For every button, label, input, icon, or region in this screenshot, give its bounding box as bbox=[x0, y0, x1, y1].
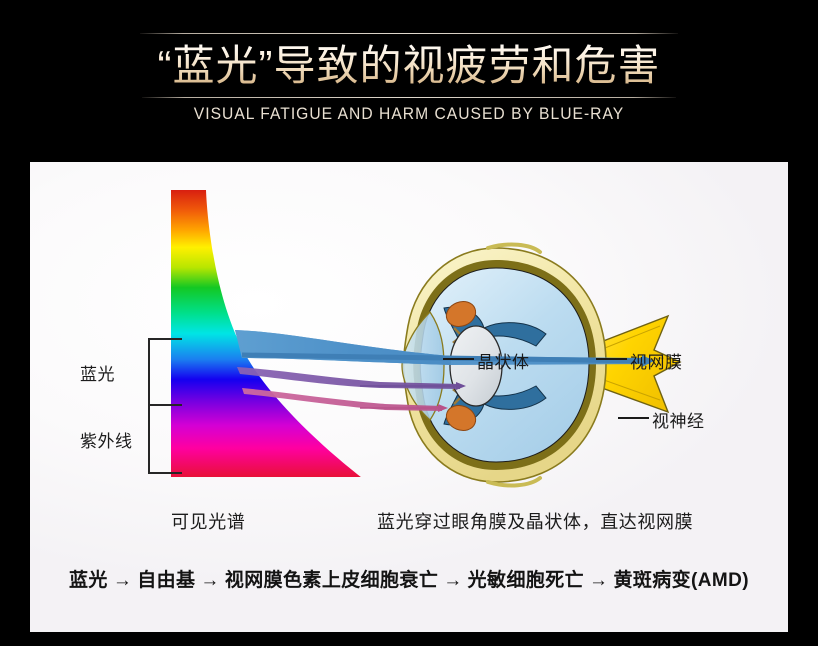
content-panel: 蓝光 紫外线 bbox=[30, 162, 788, 632]
chain-node: 自由基 bbox=[137, 565, 195, 592]
eye-label-lens: 晶状体 bbox=[477, 348, 530, 373]
bracket-blue-light bbox=[148, 338, 182, 406]
header-banner: “蓝光”导致的视疲劳和危害 VISUAL FATIGUE AND HARM CA… bbox=[0, 0, 818, 160]
title-rule-top bbox=[140, 33, 678, 34]
spectrum-svg bbox=[165, 190, 380, 490]
leader-line-retina bbox=[596, 358, 627, 360]
spectrum-wedge bbox=[171, 190, 361, 477]
damage-chain: 蓝光→自由基→视网膜色素上皮细胞衰亡→光敏细胞死亡→黄斑病变(AMD) bbox=[30, 565, 788, 592]
caption-visible-spectrum: 可见光谱 bbox=[171, 508, 245, 534]
page-subtitle: VISUAL FATIGUE AND HARM CAUSED BY BLUE-R… bbox=[33, 103, 786, 125]
visible-spectrum-graphic bbox=[165, 190, 380, 490]
chain-arrow: → bbox=[438, 570, 467, 591]
chain-arrow: → bbox=[195, 570, 224, 591]
leader-line-optic-nerve bbox=[618, 417, 649, 419]
chain-node: 黄斑病变(AMD) bbox=[613, 565, 749, 592]
caption-blue-light-path: 蓝光穿过眼角膜及晶状体，直达视网膜 bbox=[377, 508, 693, 534]
title-rule-bottom bbox=[142, 97, 676, 98]
spectrum-label-ultraviolet: 紫外线 bbox=[80, 427, 133, 452]
chain-node: 视网膜色素上皮细胞衰亡 bbox=[225, 565, 438, 592]
spectrum-label-blue-light: 蓝光 bbox=[80, 360, 115, 385]
chain-arrow: → bbox=[584, 570, 613, 591]
leader-line-lens bbox=[443, 358, 474, 360]
chain-arrow: → bbox=[108, 570, 137, 591]
eye-label-optic-nerve: 视神经 bbox=[652, 407, 705, 432]
eye-label-retina: 视网膜 bbox=[630, 348, 683, 373]
page-title: “蓝光”导致的视疲劳和危害 bbox=[0, 38, 818, 94]
chain-node: 蓝光 bbox=[69, 565, 108, 592]
chain-node: 光敏细胞死亡 bbox=[468, 565, 584, 592]
bracket-ultraviolet bbox=[148, 404, 182, 474]
